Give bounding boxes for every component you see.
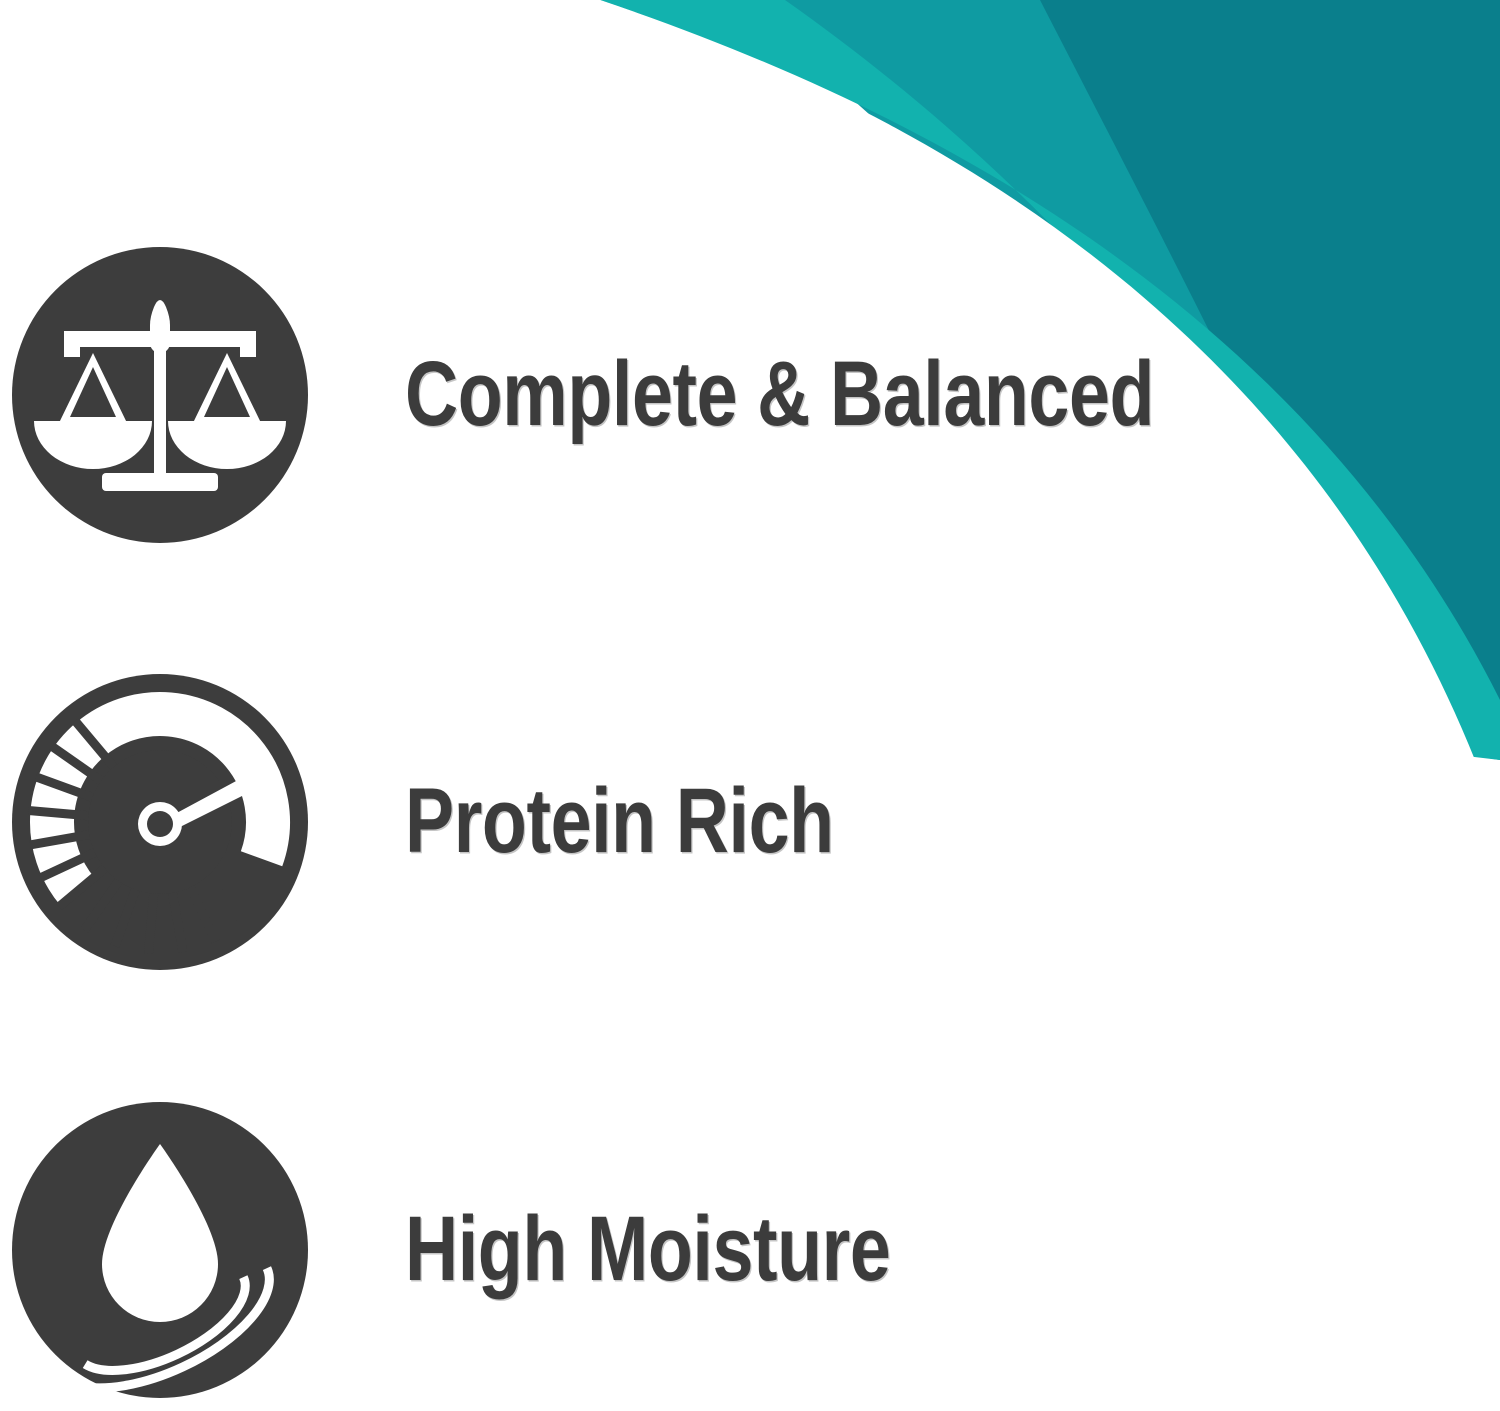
feature-label-complete-and-balanced: Complete & Balanced bbox=[405, 348, 1201, 442]
feature-row-complete-and-balanced: Complete & Balanced bbox=[0, 245, 1400, 545]
feature-row-protein-rich: Protein Rich bbox=[0, 672, 1400, 972]
feature-label-high-moisture: High Moisture bbox=[405, 1203, 1201, 1297]
gauge-meter-icon bbox=[10, 672, 310, 972]
balance-scale-icon bbox=[10, 245, 310, 545]
balance-scale-badge bbox=[10, 245, 310, 545]
feature-label-protein-rich: Protein Rich bbox=[405, 775, 1201, 869]
water-drop-icon bbox=[10, 1100, 310, 1400]
gauge-meter-badge bbox=[10, 672, 310, 972]
feature-badge-panel: Complete & Balanced bbox=[0, 0, 1500, 1411]
feature-row-high-moisture: High Moisture bbox=[0, 1100, 1400, 1400]
water-drop-badge bbox=[10, 1100, 310, 1400]
